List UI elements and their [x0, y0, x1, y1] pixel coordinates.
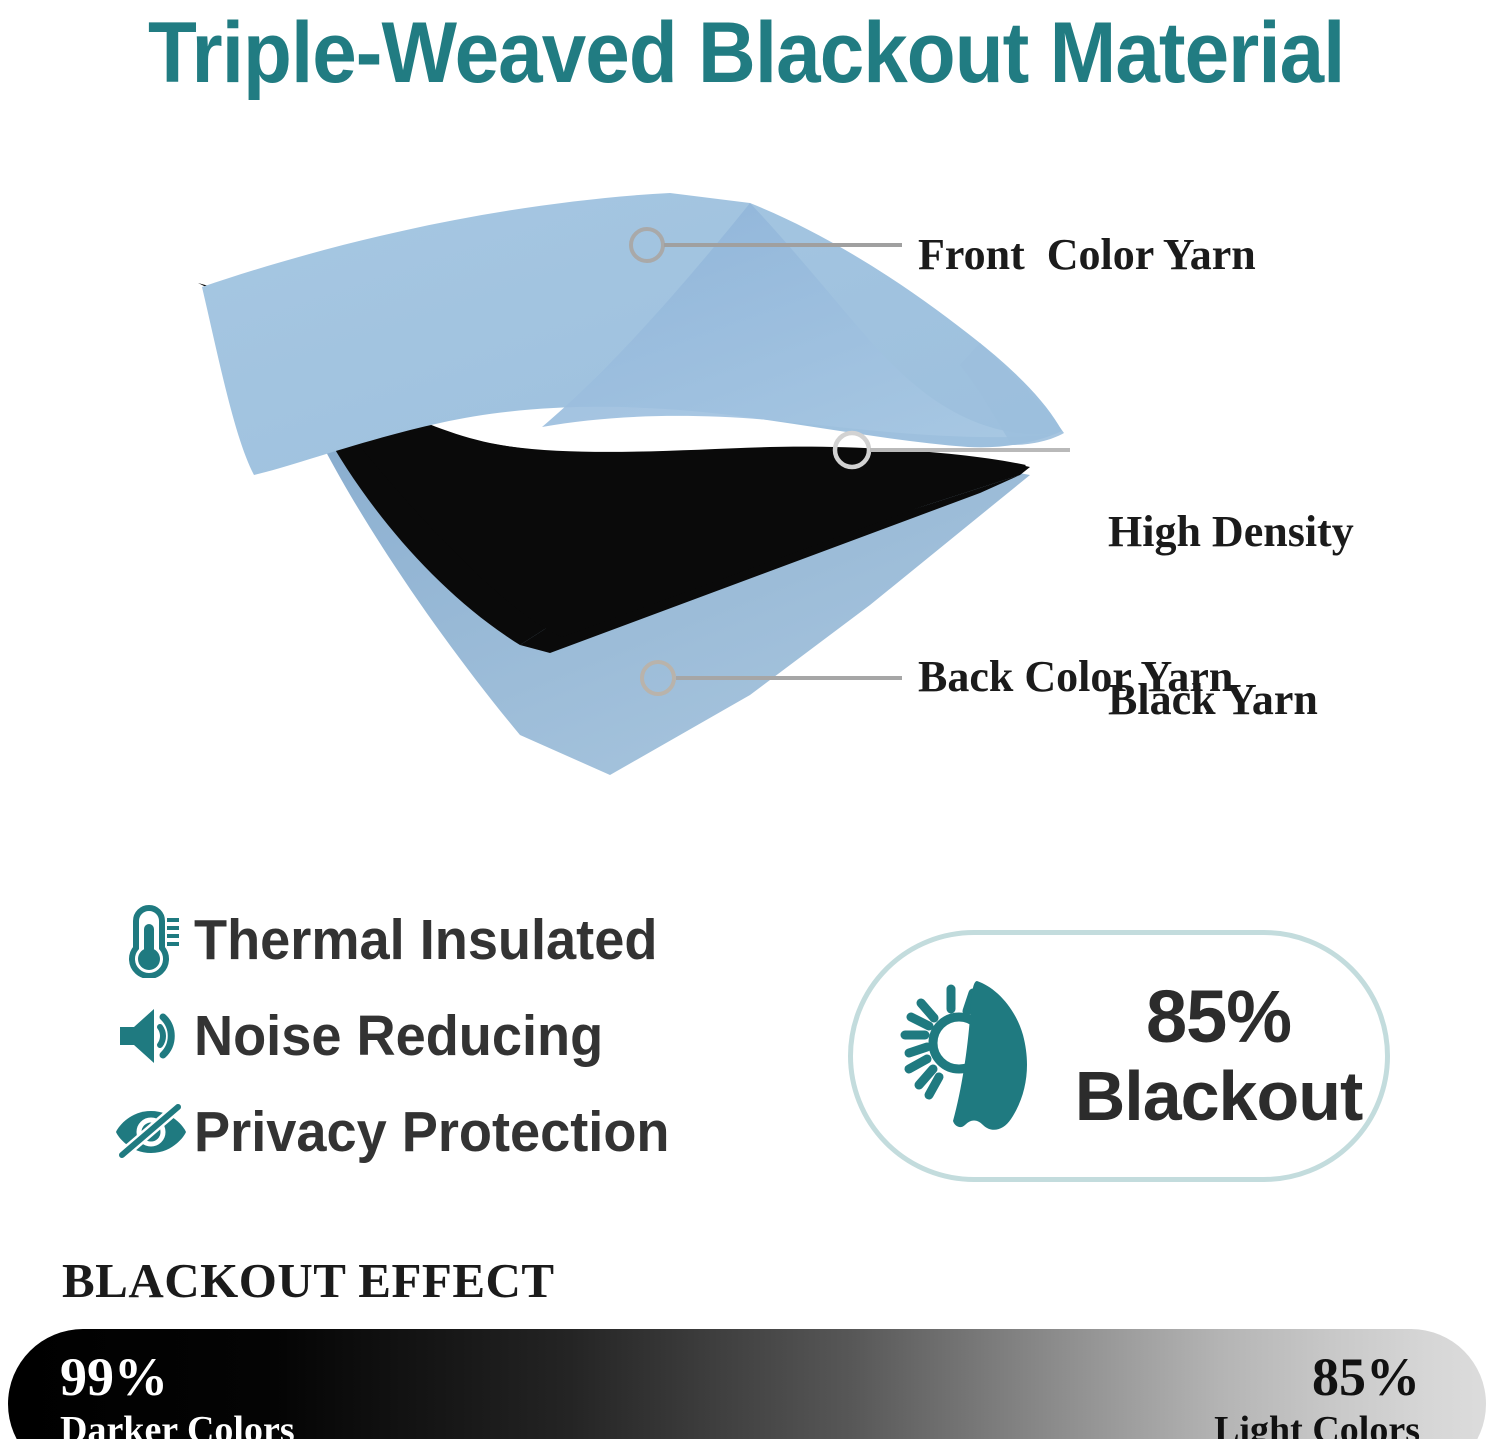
- effect-right-percent: 85%: [1312, 1347, 1420, 1407]
- callout-black-line1: High Density: [1108, 504, 1354, 560]
- feature-label-thermal: Thermal Insulated: [194, 909, 657, 971]
- effect-left-percent: 99%: [60, 1347, 168, 1407]
- feature-row-noise: Noise Reducing: [108, 988, 798, 1084]
- feature-label-privacy: Privacy Protection: [194, 1101, 670, 1163]
- title-bar: Triple-Weaved Blackout Material: [0, 0, 1492, 105]
- sun-behind-curtain-icon: [853, 973, 1068, 1139]
- blackout-effect-heading: BLACKOUT EFFECT: [62, 1252, 555, 1310]
- callout-back-color-yarn: Back Color Yarn: [918, 650, 1233, 704]
- callout-front-color-yarn: Front Color Yarn: [918, 228, 1256, 282]
- feature-label-noise: Noise Reducing: [194, 1005, 603, 1067]
- badge-word: Blackout: [1075, 1057, 1363, 1135]
- blackout-effect-gradient-bar: 99% Darker Colors 85% Light Colors: [8, 1329, 1486, 1439]
- page-title: Triple-Weaved Blackout Material: [148, 5, 1344, 101]
- effect-bar-right-block: 85% Light Colors: [1214, 1347, 1420, 1439]
- feature-row-thermal: Thermal Insulated: [108, 892, 798, 988]
- eye-slash-icon: [108, 1103, 194, 1161]
- effect-left-caption: Darker Colors: [60, 1407, 295, 1439]
- effect-right-caption: Light Colors: [1214, 1407, 1420, 1439]
- badge-text-group: 85% Blackout: [1068, 977, 1385, 1135]
- badge-percent: 85%: [1146, 977, 1291, 1057]
- feature-row-privacy: Privacy Protection: [108, 1084, 798, 1180]
- effect-bar-left-block: 99% Darker Colors: [60, 1347, 295, 1439]
- feature-list: Thermal Insulated Noise Reducing: [108, 892, 798, 1180]
- speaker-sound-icon: [108, 1005, 194, 1067]
- blackout-badge: 85% Blackout: [848, 930, 1390, 1182]
- callout-high-density-black-yarn: High Density Black Yarn: [1108, 392, 1354, 784]
- thermometer-icon: [108, 902, 194, 978]
